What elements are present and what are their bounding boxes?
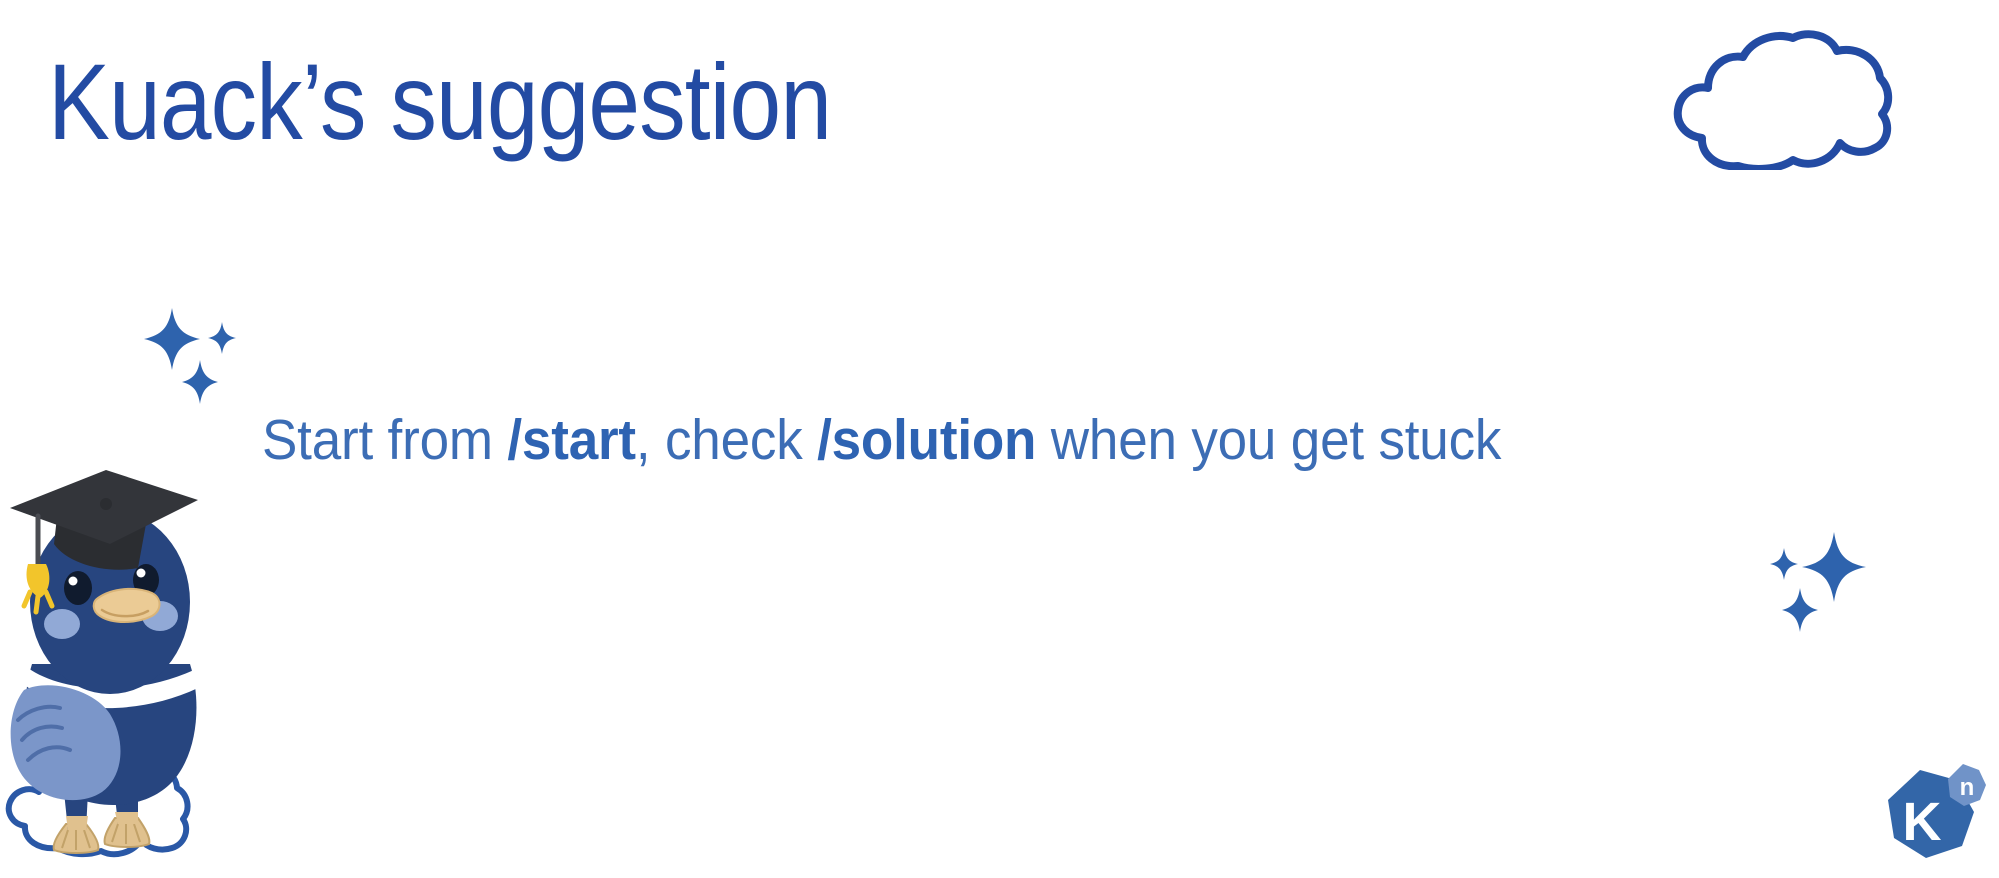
- body-text-segment-3: when you get stuck: [1036, 408, 1501, 472]
- kn-logo[interactable]: K n: [1878, 762, 1988, 864]
- page-title: Kuack’s suggestion: [48, 42, 831, 163]
- kuack-duck-mascot: [2, 452, 222, 878]
- body-text-segment-1: Start from: [262, 408, 507, 472]
- mascot-beak: [94, 589, 160, 622]
- body-text-segment-2: , check: [636, 408, 817, 472]
- logo-letter-k: K: [1903, 792, 1942, 852]
- command-start: /start: [507, 408, 636, 472]
- slide-canvas: Kuack’s suggestion Start from /start, ch: [0, 0, 1999, 878]
- logo-letter-n: n: [1960, 774, 1975, 801]
- mascot-cheek-left: [44, 609, 80, 639]
- sparkles-icon: [142, 300, 252, 412]
- body-text: Start from /start, check /solution when …: [262, 405, 1501, 476]
- sparkles-icon: [1760, 522, 1870, 634]
- command-solution: /solution: [817, 408, 1036, 472]
- cloud-outline-icon: [1672, 28, 1894, 170]
